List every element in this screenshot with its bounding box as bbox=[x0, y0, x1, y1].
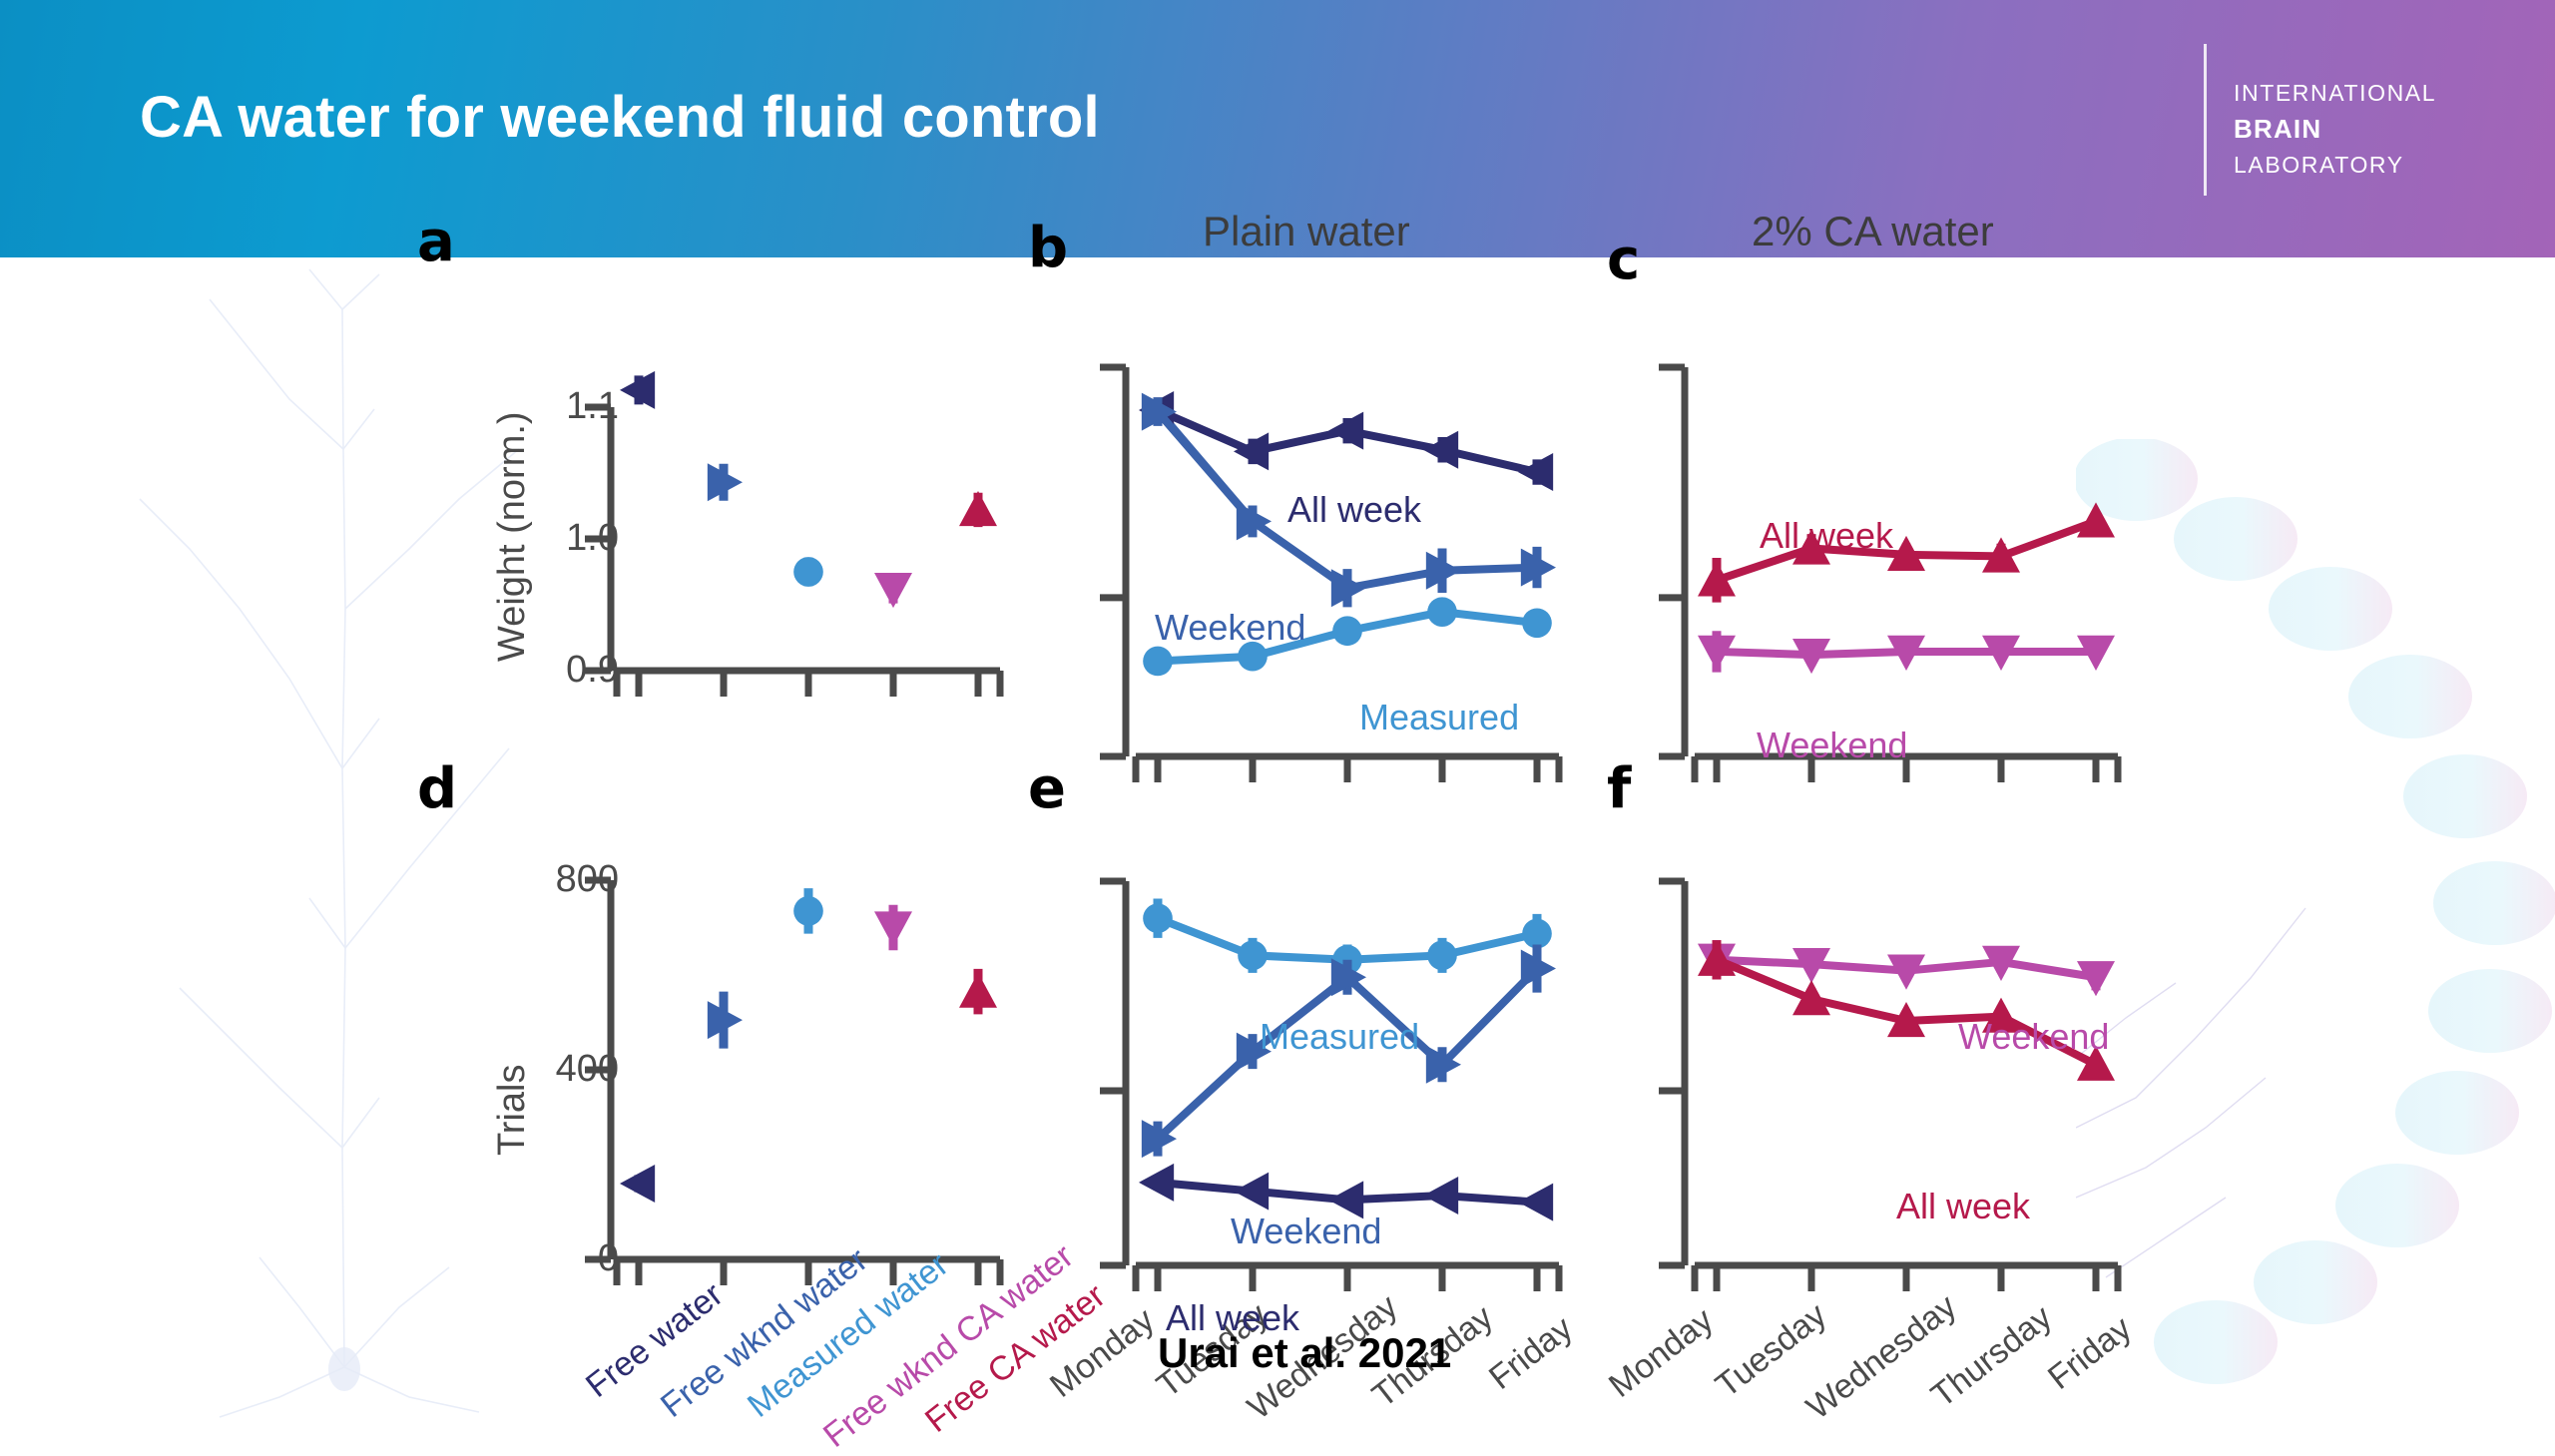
data-point-marker bbox=[959, 973, 997, 1008]
ibl-logo: INTERNATIONAL BRAIN LABORATORY bbox=[2204, 44, 2503, 204]
panel-b-annot-weekend: Weekend bbox=[1155, 607, 1305, 649]
panel-c-series-1 bbox=[1698, 631, 2115, 674]
data-point-marker bbox=[793, 557, 823, 587]
data-point-marker bbox=[620, 1165, 655, 1203]
axis-group bbox=[585, 407, 1000, 697]
column-title-plain-water: Plain water bbox=[1203, 208, 1410, 255]
citation-text: Urai et al. 2021 bbox=[1158, 1329, 1451, 1377]
panel-f-annot-all-week: All week bbox=[1896, 1186, 2030, 1227]
data-point-marker bbox=[874, 573, 912, 608]
data-point-marker bbox=[1522, 919, 1552, 949]
data-point-marker bbox=[1522, 608, 1552, 638]
data-point-marker bbox=[1518, 1184, 1553, 1221]
logo-divider-rule bbox=[2204, 44, 2207, 196]
panel-b-annot-all-week: All week bbox=[1287, 489, 1421, 531]
data-point-marker bbox=[1234, 432, 1269, 470]
panel-b-annot-measured: Measured bbox=[1359, 697, 1519, 738]
panel-e-annot-measured: Measured bbox=[1260, 1016, 1419, 1058]
page-title: CA water for weekend fluid control bbox=[140, 84, 1100, 151]
data-point-marker bbox=[1423, 1177, 1458, 1214]
data-point-marker bbox=[1518, 453, 1553, 491]
logo-line-international: INTERNATIONAL bbox=[2234, 80, 2436, 107]
data-point-marker bbox=[959, 491, 997, 526]
data-point-marker bbox=[1234, 1173, 1269, 1211]
panel-c-annot-all-week: All week bbox=[1760, 515, 1893, 557]
logo-line-brain: BRAIN bbox=[2234, 114, 2321, 145]
panel-c-annot-weekend: Weekend bbox=[1757, 725, 1907, 766]
panel-a-series bbox=[620, 371, 997, 608]
data-point-marker bbox=[793, 896, 823, 926]
plots-canvas bbox=[0, 257, 2555, 1437]
data-point-marker bbox=[1427, 597, 1457, 627]
panel-e-annot-weekend: Weekend bbox=[1231, 1211, 1381, 1252]
axis-group bbox=[585, 880, 1000, 1285]
panel-f-series-0 bbox=[1698, 940, 2115, 996]
data-point-marker bbox=[1143, 903, 1173, 933]
data-point-marker bbox=[874, 911, 912, 946]
data-point-marker bbox=[1143, 647, 1173, 677]
panel-b-series-0 bbox=[1139, 391, 1553, 491]
data-point-marker bbox=[1238, 941, 1268, 971]
data-point-marker bbox=[1328, 412, 1363, 450]
data-point-marker bbox=[1332, 616, 1362, 646]
data-point-marker bbox=[2077, 502, 2115, 537]
logo-line-laboratory: LABORATORY bbox=[2234, 152, 2404, 179]
panel-f-annot-weekend: Weekend bbox=[1958, 1016, 2109, 1058]
column-title-ca-water: 2% CA water bbox=[1752, 208, 1994, 255]
data-point-marker bbox=[1423, 431, 1458, 469]
figure-area: Plain water 2% CA water a b c d e f Weig… bbox=[0, 257, 2555, 1437]
panel-d-series bbox=[620, 888, 997, 1203]
data-point-marker bbox=[1139, 1164, 1174, 1202]
axis-group bbox=[1659, 881, 2118, 1291]
data-point-marker bbox=[1427, 941, 1457, 971]
